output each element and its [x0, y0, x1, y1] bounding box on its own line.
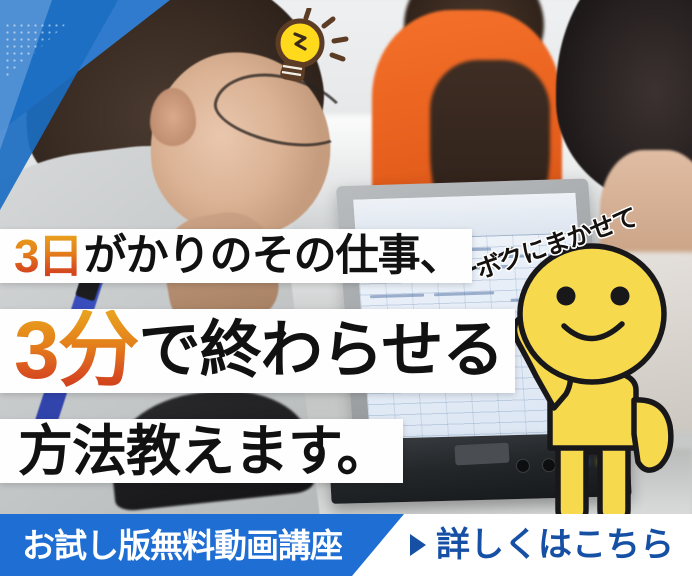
triangle-right-icon: [410, 534, 426, 556]
headline-line-1-accent: 3日: [14, 233, 82, 279]
headline-line-2: 3分 で終わらせる: [0, 309, 515, 393]
cta-left-label: お試し版無料動画講座: [22, 529, 342, 562]
cta-right-label: 詳しくはこちら: [436, 528, 674, 562]
headline-line-2-accent: 3分: [14, 310, 138, 392]
headline-line-1-text: がかりのその仕事、: [84, 235, 462, 278]
headline-line-2-text: で終わらせる: [139, 320, 504, 382]
cta-details-link[interactable]: 詳しくはこちら: [410, 514, 674, 576]
cta-bar: お試し版無料動画講座 詳しくはこちら: [0, 514, 692, 576]
headline-line-3: 方法教えます。: [0, 419, 403, 483]
cta-left-banner[interactable]: お試し版無料動画講座: [0, 514, 404, 576]
lightbulb-icon: [258, 8, 354, 84]
yellow-mascot-character: [488, 238, 692, 528]
headline-line-1: 3日 がかりのその仕事、: [0, 229, 472, 283]
headline-line-3-text: 方法教えます。: [18, 424, 391, 479]
advertisement-banner: ボクにまかせて 3日 がかりのその仕事、 3分 で終わらせる 方法教えます。 お…: [0, 0, 692, 576]
